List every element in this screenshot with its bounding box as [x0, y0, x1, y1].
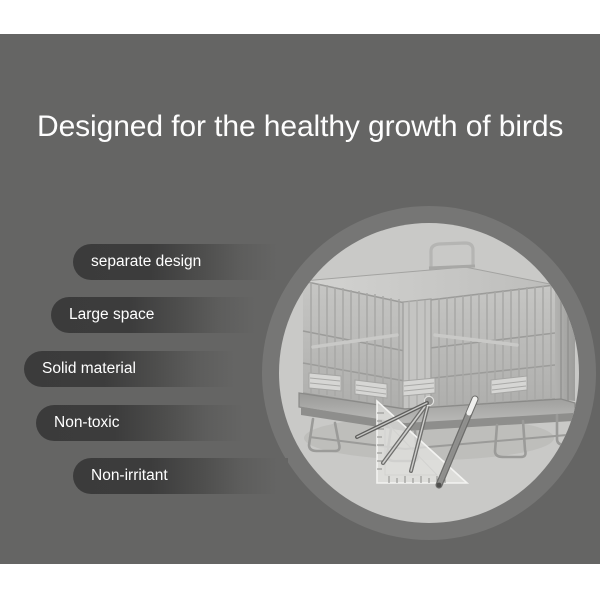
feature-pill-separate-design[interactable]: separate design — [73, 244, 288, 280]
feature-pill-label: Large space — [69, 306, 154, 324]
slide-canvas: Designed for the healthy growth of birds — [0, 0, 600, 600]
feature-pill-solid-material[interactable]: Solid material — [24, 351, 246, 387]
feature-pill-non-toxic[interactable]: Non-toxic — [36, 405, 254, 441]
page-title: Designed for the healthy growth of birds — [37, 110, 577, 144]
feature-pill-large-space[interactable]: Large space — [51, 297, 266, 333]
feature-pill-label: Non-irritant — [91, 467, 168, 485]
medallion-inner-circle — [279, 223, 579, 523]
feature-pill-label: separate design — [91, 253, 201, 271]
slide-panel: Designed for the healthy growth of birds — [0, 34, 600, 564]
feature-pill-label: Solid material — [42, 360, 136, 378]
feature-pill-label: Non-toxic — [54, 414, 119, 432]
feature-pill-non-irritant[interactable]: Non-irritant — [73, 458, 288, 494]
product-medallion — [262, 206, 596, 540]
bird-cage-photo — [279, 223, 579, 523]
